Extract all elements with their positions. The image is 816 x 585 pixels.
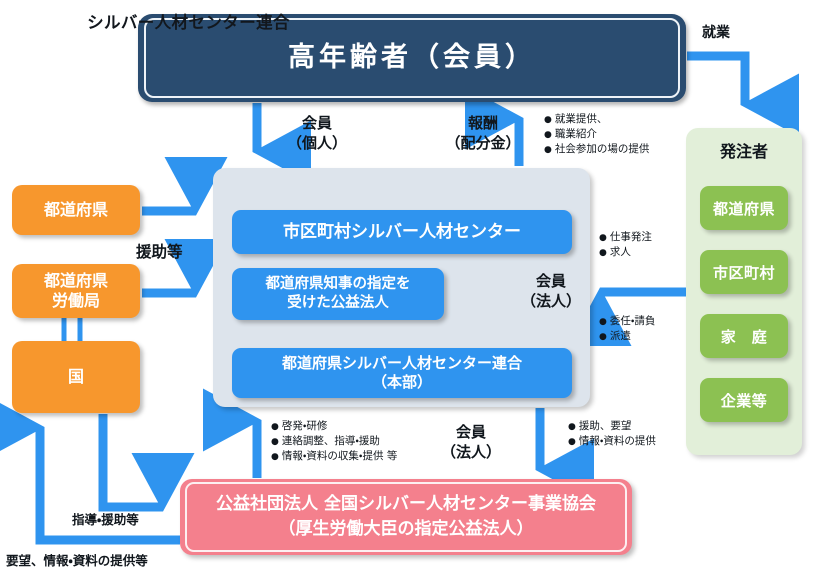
box-prefecture[interactable]: 都道府県 <box>12 185 140 235</box>
box-orderer-household[interactable]: 家 庭 <box>700 314 788 358</box>
right-panel-title: 発注者 <box>686 138 802 162</box>
box-orderer-company[interactable]: 企業等 <box>700 378 788 422</box>
label-reward: 報酬（配分金） <box>428 114 538 153</box>
box-country[interactable]: 国 <box>12 341 140 413</box>
bullets-enlightenment-training: 啓発・研修 連絡調整、指導・援助 情報・資料の収集・提供 等 <box>271 419 397 465</box>
label-member-corporate-bottom: 会員（法人） <box>432 423 510 462</box>
bottom-box-inner: 公益社団法人 全国シルバー人材センター事業協会 （厚生労働大臣の指定公益法人） <box>185 482 627 552</box>
bullets-entrustment-dispatch: 委任・請負 派遣 <box>599 314 655 344</box>
box-prefectural-labor-bureau[interactable]: 都道府県労働局 <box>12 264 140 318</box>
box-orderer-prefecture[interactable]: 都道府県 <box>700 186 788 230</box>
bottom-box-national-association[interactable]: 公益社団法人 全国シルバー人材センター事業協会 （厚生労働大臣の指定公益法人） <box>180 479 632 555</box>
bullet-item: 啓発・研修 <box>271 419 397 434</box>
box-governor-designated-corporation[interactable]: 都道府県知事の指定を受けた公益法人 <box>232 268 444 320</box>
label-request-info: 要望、情報・資料の提供等 <box>6 553 148 569</box>
box-municipal-silver-center[interactable]: 市区町村シルバー人材センター <box>232 210 572 254</box>
diagram-canvas: 高年齢者（会員） シルバー人材センター連合 市区町村シルバー人材センター 都道府… <box>0 0 816 585</box>
label-assistance: 援助等 <box>136 242 183 262</box>
bullet-item: 職業紹介 <box>544 127 649 142</box>
bullet-item: 委任・請負 <box>599 314 655 329</box>
label-member-individual: 会員（個人） <box>272 114 362 153</box>
box-orderer-municipality[interactable]: 市区町村 <box>700 250 788 294</box>
bottom-box-line2: （厚生労働大臣の指定公益法人） <box>279 517 534 542</box>
bullet-item: 派遣 <box>599 329 655 344</box>
bullets-employment-offer: 就業提供、 職業紹介 社会参加の場の提供 <box>544 112 649 158</box>
label-member-corporate-mid: 会員（法人） <box>512 272 590 311</box>
bottom-box-line1: 公益社団法人 全国シルバー人材センター事業協会 <box>216 492 596 517</box>
label-guidance-assistance: 指導・援助等 <box>72 512 139 528</box>
bullet-item: 仕事発注 <box>599 230 652 245</box>
bullet-item: 情報・資料の提供 <box>568 434 656 449</box>
bullet-item: 連絡調整、指導・援助 <box>271 434 397 449</box>
bullets-assistance-request: 援助、要望 情報・資料の提供 <box>568 419 656 449</box>
bullet-item: 援助、要望 <box>568 419 656 434</box>
bullet-item: 社会参加の場の提供 <box>544 142 649 157</box>
bullet-item: 情報・資料の収集・提供 等 <box>271 449 397 464</box>
arrow-employment <box>687 56 745 105</box>
arrow-guidance-country-to-association <box>103 414 163 507</box>
box-prefectural-federation-hq[interactable]: 都道府県シルバー人材センター連合（本部） <box>232 348 572 398</box>
bullets-work-order: 仕事発注 求人 <box>599 230 652 260</box>
label-employment: 就業 <box>702 24 730 42</box>
bullet-item: 就業提供、 <box>544 112 649 127</box>
bullet-item: 求人 <box>599 245 652 260</box>
center-panel-title: シルバー人材センター連合 <box>0 9 377 33</box>
